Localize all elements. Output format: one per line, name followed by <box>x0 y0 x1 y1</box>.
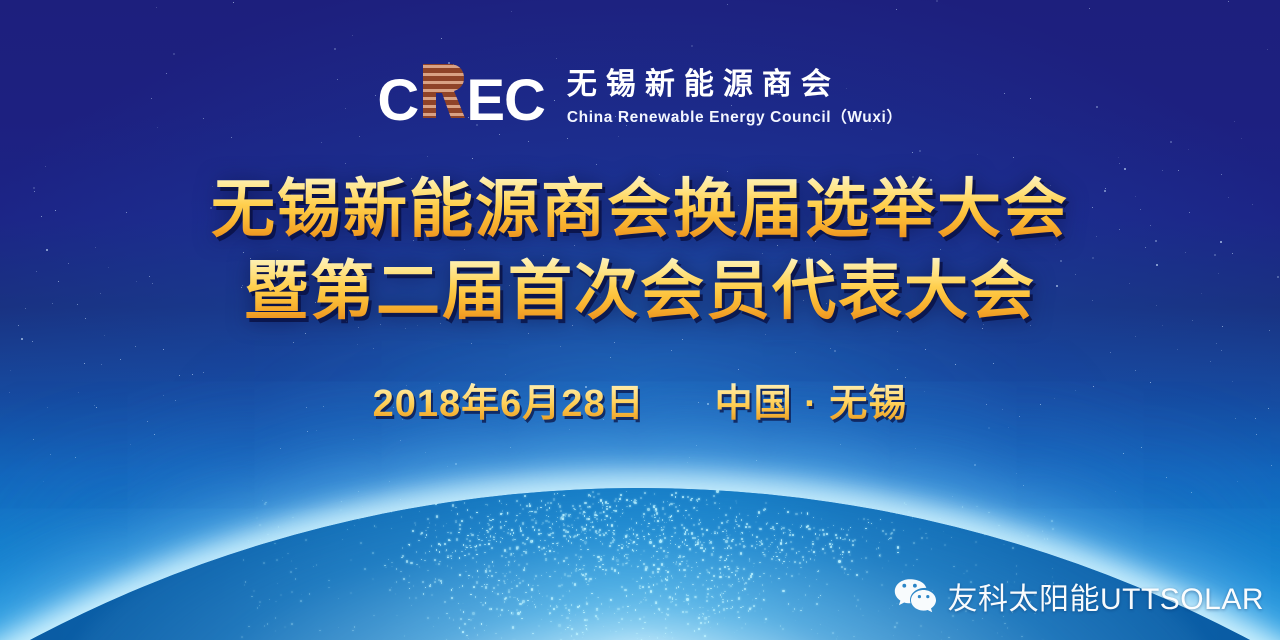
crec-letter-c1: C <box>377 72 418 130</box>
org-name-chinese: 无锡新能源商会 <box>567 69 903 101</box>
event-location: 中国 · 无锡 <box>715 372 908 427</box>
event-date: 2018年6月28日 <box>373 372 645 427</box>
wechat-icon <box>893 577 937 615</box>
wechat-account-name: 友科太阳能UTTSOLAR <box>947 574 1264 618</box>
crec-letter-r-striped-icon <box>419 62 465 120</box>
org-name-english: China Renewable Energy Council（Wuxi） <box>567 105 903 127</box>
crec-name-block: 无锡新能源商会 China Renewable Energy Council（W… <box>567 69 903 127</box>
event-poster: C <box>0 0 1280 640</box>
headline-line-1: 无锡新能源商会换届选举大会 <box>0 168 1280 250</box>
crec-logo: C <box>0 62 1280 130</box>
crec-letter-e: E <box>466 72 504 130</box>
event-meta: 2018年6月28日 中国 · 无锡 <box>0 372 1280 427</box>
page-title: 无锡新能源商会换届选举大会 暨第二届首次会员代表大会 <box>0 168 1280 332</box>
wechat-watermark: 友科太阳能UTTSOLAR <box>893 574 1264 618</box>
crec-letter-c2: C <box>504 72 545 130</box>
crec-wordmark: C <box>377 62 544 130</box>
headline-line-2: 暨第二届首次会员代表大会 <box>0 250 1280 332</box>
